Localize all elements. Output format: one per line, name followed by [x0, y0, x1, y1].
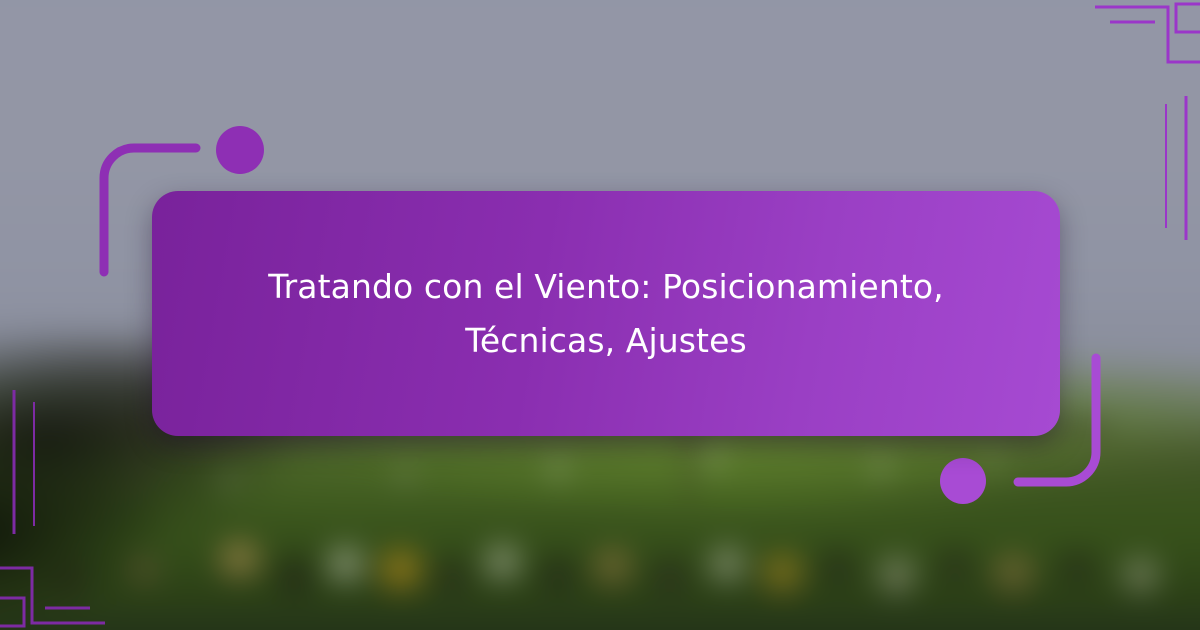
title-card: Tratando con el Viento: Posicionamiento,… [152, 191, 1060, 436]
share-card-canvas: Tratando con el Viento: Posicionamiento,… [0, 0, 1200, 630]
page-title: Tratando con el Viento: Posicionamiento,… [215, 260, 997, 367]
